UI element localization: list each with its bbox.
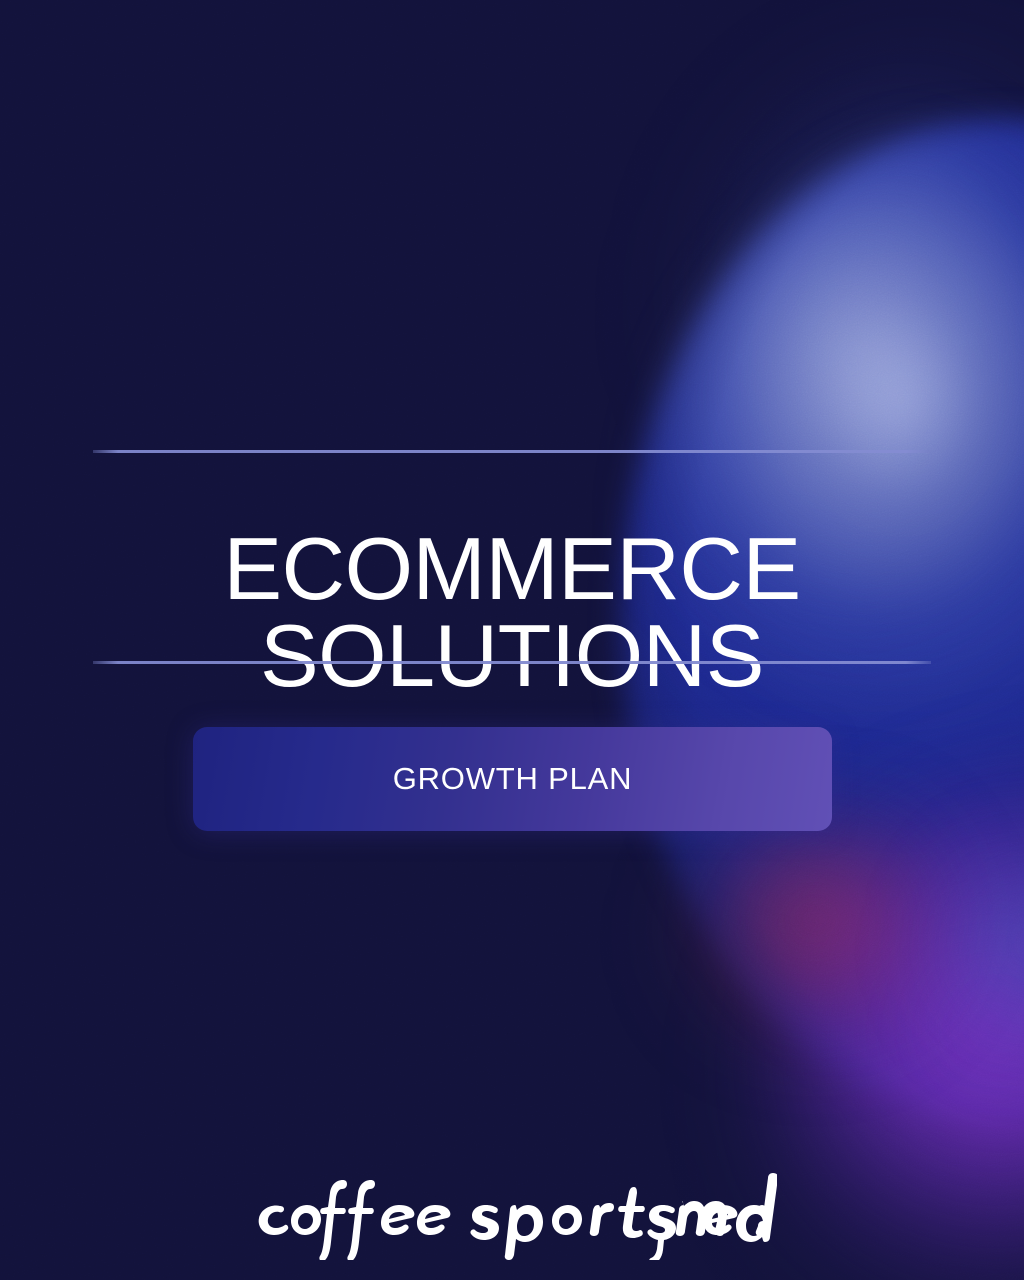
page-title: ECOMMERCE SOLUTIONS: [0, 525, 1024, 699]
poster-canvas: ECOMMERCE SOLUTIONS GROWTH PLAN coffee s…: [0, 0, 1024, 1280]
bottom-divider: [93, 661, 931, 664]
headline-line-2: SOLUTIONS: [0, 612, 1024, 699]
growth-plan-button[interactable]: GROWTH PLAN: [193, 727, 832, 831]
headline-line-1: ECOMMERCE: [0, 525, 1024, 612]
poster-content: ECOMMERCE SOLUTIONS GROWTH PLAN coffee s…: [0, 0, 1024, 1280]
coffee-sports-media-wordmark-icon: [247, 1168, 777, 1260]
brand-logo: coffee sports media: [0, 1168, 1024, 1265]
growth-plan-button-label: GROWTH PLAN: [393, 761, 633, 797]
top-divider: [93, 450, 931, 453]
